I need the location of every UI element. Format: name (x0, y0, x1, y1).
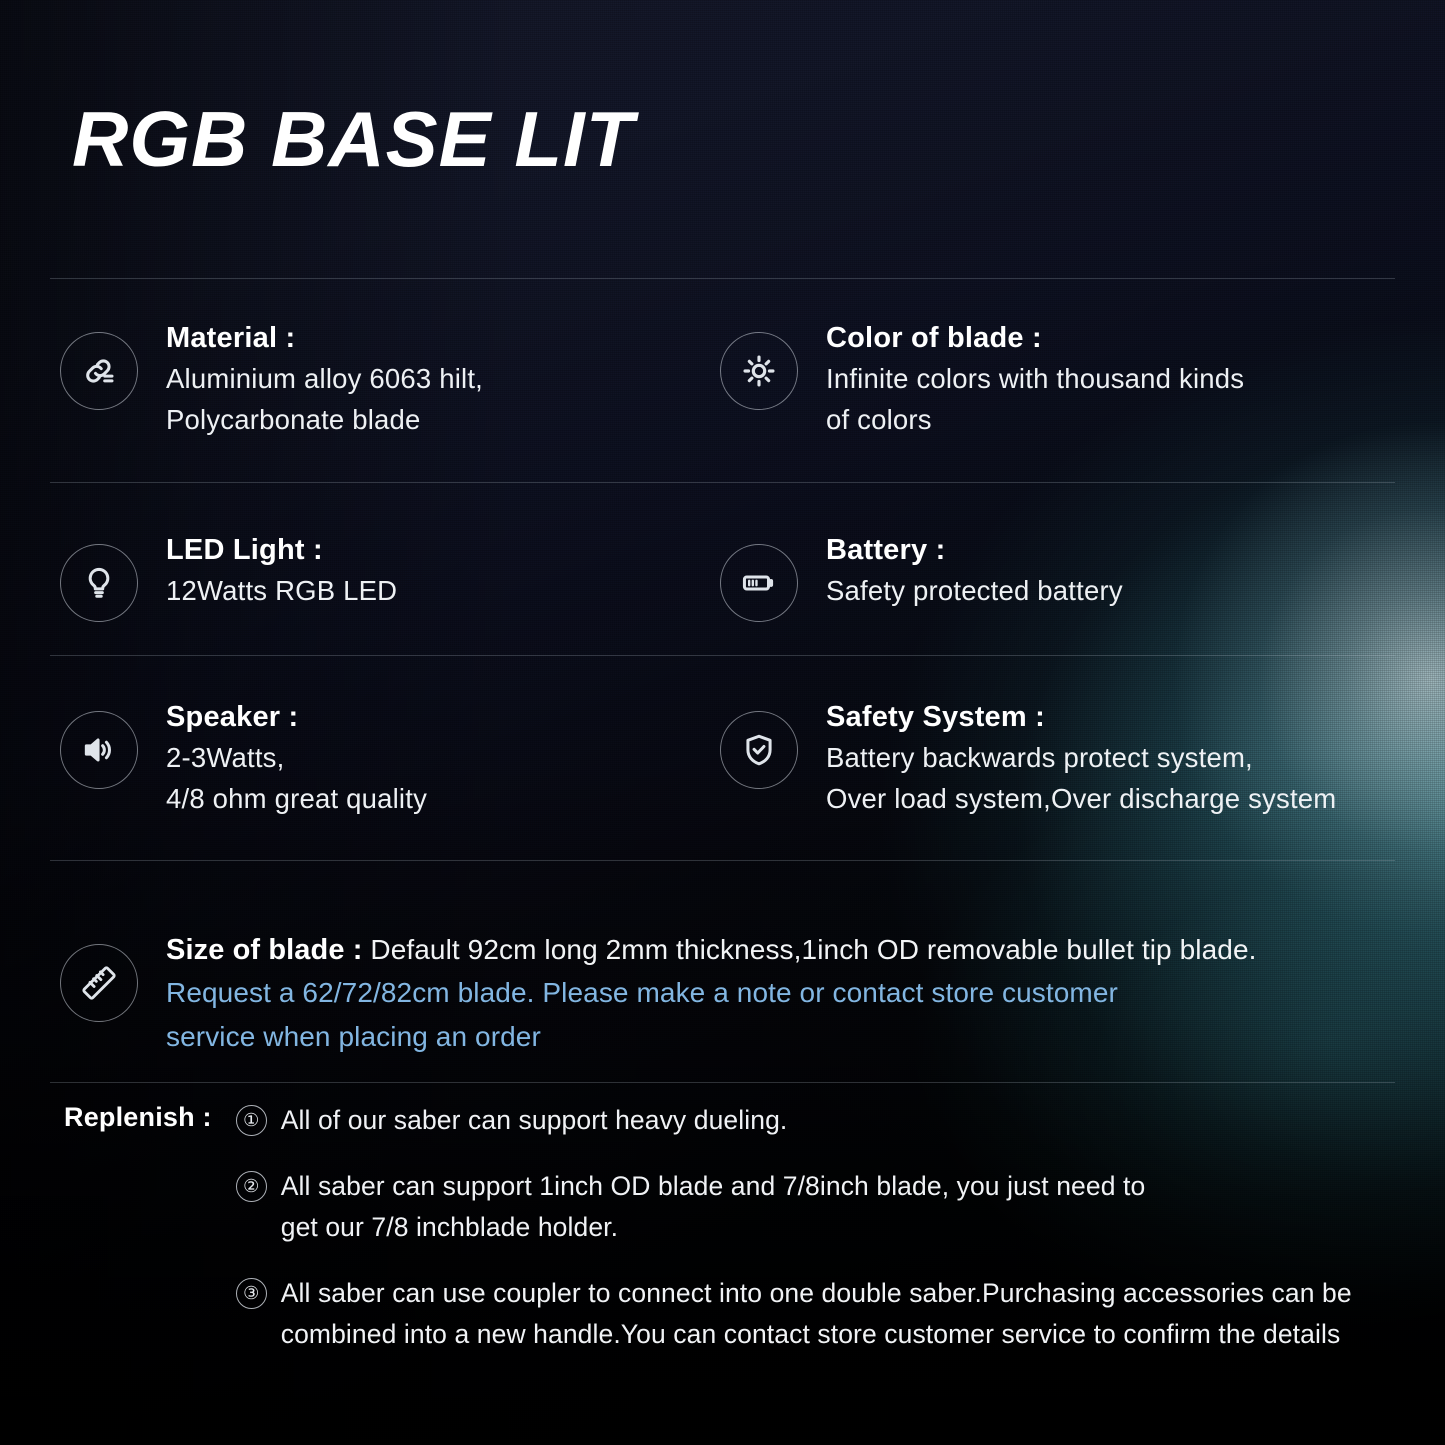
spec-text-speaker: Speaker : 2-3Watts, 4/8 ohm great qualit… (166, 697, 427, 820)
list-item: ② All saber can support 1inch OD blade a… (236, 1166, 1352, 1248)
spec-item-material: Material : Aluminium alloy 6063 hilt, Po… (60, 318, 710, 441)
list-item-line: All saber can use coupler to connect int… (281, 1273, 1352, 1314)
divider-5 (50, 1082, 1395, 1083)
spec-value-line: of colors (826, 400, 1244, 441)
spec-item-safety-system: Safety System : Battery backwards protec… (720, 697, 1430, 820)
spec-label: Battery : (826, 530, 1123, 571)
spec-value-line: Aluminium alloy 6063 hilt, (166, 359, 483, 400)
replenish-section: Replenish : ① All of our saber can suppo… (64, 1100, 1434, 1355)
size-of-blade-text: Size of blade : Default 92cm long 2mm th… (166, 930, 1257, 1058)
ruler-icon (60, 944, 138, 1022)
size-of-blade-value: Default 92cm long 2mm thickness,1inch OD… (370, 934, 1256, 965)
divider-1 (50, 278, 1395, 279)
spec-value-line: Polycarbonate blade (166, 400, 483, 441)
divider-3 (50, 655, 1395, 656)
size-of-blade-label: Size of blade : (166, 934, 362, 966)
spec-value-line: Safety protected battery (826, 571, 1123, 612)
list-item-line: get our 7/8 inchblade holder. (281, 1207, 1146, 1248)
spec-label: Speaker : (166, 697, 427, 738)
spec-text-led-light: LED Light : 12Watts RGB LED (166, 530, 397, 612)
speaker-icon (60, 711, 138, 789)
list-item-body: All saber can support 1inch OD blade and… (281, 1166, 1146, 1248)
page-title: RGB BASE LIT (72, 100, 634, 178)
size-of-blade-note-line-1: Request a 62/72/82cm blade. Please make … (166, 971, 1257, 1014)
replenish-item-list: ① All of our saber can support heavy due… (236, 1100, 1352, 1355)
brightness-sun-icon (720, 332, 798, 410)
spec-item-speaker: Speaker : 2-3Watts, 4/8 ohm great qualit… (60, 697, 710, 820)
list-item-line: All of our saber can support heavy dueli… (281, 1100, 788, 1141)
spec-item-battery: Battery : Safety protected battery (720, 530, 1430, 622)
spec-text-color-of-blade: Color of blade : Infinite colors with th… (826, 318, 1244, 441)
spec-value-line: Battery backwards protect system, (826, 738, 1336, 779)
product-spec-infographic: RGB BASE LIT Material : Aluminium alloy … (0, 0, 1445, 1445)
list-item-line: All saber can support 1inch OD blade and… (281, 1166, 1146, 1207)
spec-label: Material : (166, 318, 483, 359)
spec-value-line: Over load system,Over discharge system (826, 779, 1336, 820)
spec-label: Safety System : (826, 697, 1336, 738)
spec-item-color-of-blade: Color of blade : Infinite colors with th… (720, 318, 1430, 441)
replenish-label: Replenish : (64, 1100, 212, 1133)
spec-item-size-of-blade: Size of blade : Default 92cm long 2mm th… (60, 930, 1430, 1058)
spec-item-led-light: LED Light : 12Watts RGB LED (60, 530, 710, 622)
spec-value-line: 12Watts RGB LED (166, 571, 397, 612)
spec-text-safety-system: Safety System : Battery backwards protec… (826, 697, 1336, 820)
list-number-badge: ① (236, 1105, 267, 1136)
list-item: ③ All saber can use coupler to connect i… (236, 1273, 1352, 1355)
list-item-body: All saber can use coupler to connect int… (281, 1273, 1352, 1355)
spec-value-line: 2-3Watts, (166, 738, 427, 779)
spec-text-material: Material : Aluminium alloy 6063 hilt, Po… (166, 318, 483, 441)
chain-link-icon (60, 332, 138, 410)
spec-value-line: 4/8 ohm great quality (166, 779, 427, 820)
divider-2 (50, 482, 1395, 483)
list-item: ① All of our saber can support heavy due… (236, 1100, 1352, 1141)
size-of-blade-note-line-2: service when placing an order (166, 1015, 1257, 1058)
spec-label: Color of blade : (826, 318, 1244, 359)
battery-icon (720, 544, 798, 622)
shield-check-icon (720, 711, 798, 789)
spec-label: LED Light : (166, 530, 397, 571)
spec-value-line: Infinite colors with thousand kinds (826, 359, 1244, 400)
spec-text-battery: Battery : Safety protected battery (826, 530, 1123, 612)
list-number-badge: ② (236, 1171, 267, 1202)
list-item-line: combined into a new handle.You can conta… (281, 1314, 1352, 1355)
list-number-badge: ③ (236, 1278, 267, 1309)
size-of-blade-line: Size of blade : Default 92cm long 2mm th… (166, 930, 1257, 971)
lightbulb-icon (60, 544, 138, 622)
list-item-body: All of our saber can support heavy dueli… (281, 1100, 788, 1141)
divider-4 (50, 860, 1395, 861)
